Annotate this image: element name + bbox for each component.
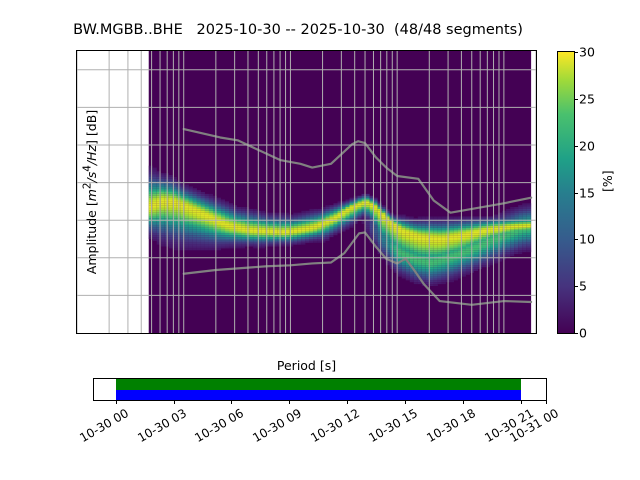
colorbar-tick-mark (574, 52, 578, 53)
x-axis-label: Period [s] (76, 358, 537, 373)
ppsd-axes[interactable]: −60−80−100−120−140−160−180−200 0.010.111… (76, 50, 537, 334)
timeline-tick-mark (546, 400, 547, 404)
ppsd-figure: BW.MGBB..BHE 2025-10-30 -- 2025-10-30 (4… (0, 0, 640, 480)
ppsd-plot-area (77, 51, 536, 333)
colorbar-tick-label: 10 (579, 232, 595, 247)
timeline-tick-mark (231, 400, 232, 404)
x-tick-mark-major (77, 333, 78, 334)
colorbar-tick-mark (574, 146, 578, 147)
x-tick-mark-major (184, 333, 185, 334)
colorbar[interactable]: 051015202530 (557, 51, 575, 334)
timeline-tick-label: 10-30 15 (366, 406, 420, 445)
timeline-tick-mark (289, 400, 290, 404)
colorbar-tick-label: 20 (579, 138, 595, 153)
timeline-tick-label: 10-30 03 (135, 406, 189, 445)
colorbar-tick-label: 25 (579, 91, 595, 106)
colorbar-tick-mark (574, 193, 578, 194)
timeline-tick-mark (116, 400, 117, 404)
timeline-tick-label: 10-30 18 (424, 406, 478, 445)
y-tick-mark (76, 220, 77, 221)
y-tick-mark (76, 145, 77, 146)
x-tick-mark-major (290, 333, 291, 334)
timeline-tick-label: 10-30 12 (308, 406, 362, 445)
timeline-tick-mark (347, 400, 348, 404)
y-tick-mark (76, 107, 77, 108)
psd-background (149, 51, 531, 333)
timeline-tick-mark (463, 400, 464, 404)
timeline-tick-mark (405, 400, 406, 404)
colorbar-tick-mark (574, 286, 578, 287)
colorbar-tick-label: 5 (579, 279, 587, 294)
timeline-tick-mark (174, 400, 175, 404)
colorbar-tick-label: 0 (579, 326, 587, 341)
y-tick-mark (76, 295, 77, 296)
page-title: BW.MGBB..BHE 2025-10-30 -- 2025-10-30 (4… (0, 22, 596, 38)
colorbar-tick-label: 30 (579, 45, 595, 60)
colorbar-label: [%] (600, 170, 615, 192)
y-axis-label: Amplitude [m2/s4/Hz] [dB] (82, 110, 99, 274)
timeline-coverage-bar-green (116, 379, 521, 390)
timeline-tick-mark (521, 400, 522, 404)
y-tick-mark (76, 333, 77, 334)
colorbar-tick-mark (574, 333, 578, 334)
y-tick-mark (76, 183, 77, 184)
colorbar-tick-mark (574, 99, 578, 100)
psd-density-canvas (77, 51, 536, 333)
x-tick-mark-major (397, 333, 398, 334)
y-tick-mark (76, 70, 77, 71)
x-tick-mark-major (504, 333, 505, 334)
timeline-tick-label: 10-30 06 (193, 406, 247, 445)
timeline-coverage-bar-blue (116, 390, 521, 401)
timeline-tick-label: 10-30 00 (77, 406, 131, 445)
colorbar-tick-mark (574, 239, 578, 240)
timeline-tick-label: 10-30 09 (251, 406, 305, 445)
colorbar-tick-label: 15 (579, 185, 595, 200)
timeline-axes[interactable]: 10-30 0010-30 0310-30 0610-30 0910-30 12… (93, 378, 547, 401)
y-tick-mark (76, 258, 77, 259)
